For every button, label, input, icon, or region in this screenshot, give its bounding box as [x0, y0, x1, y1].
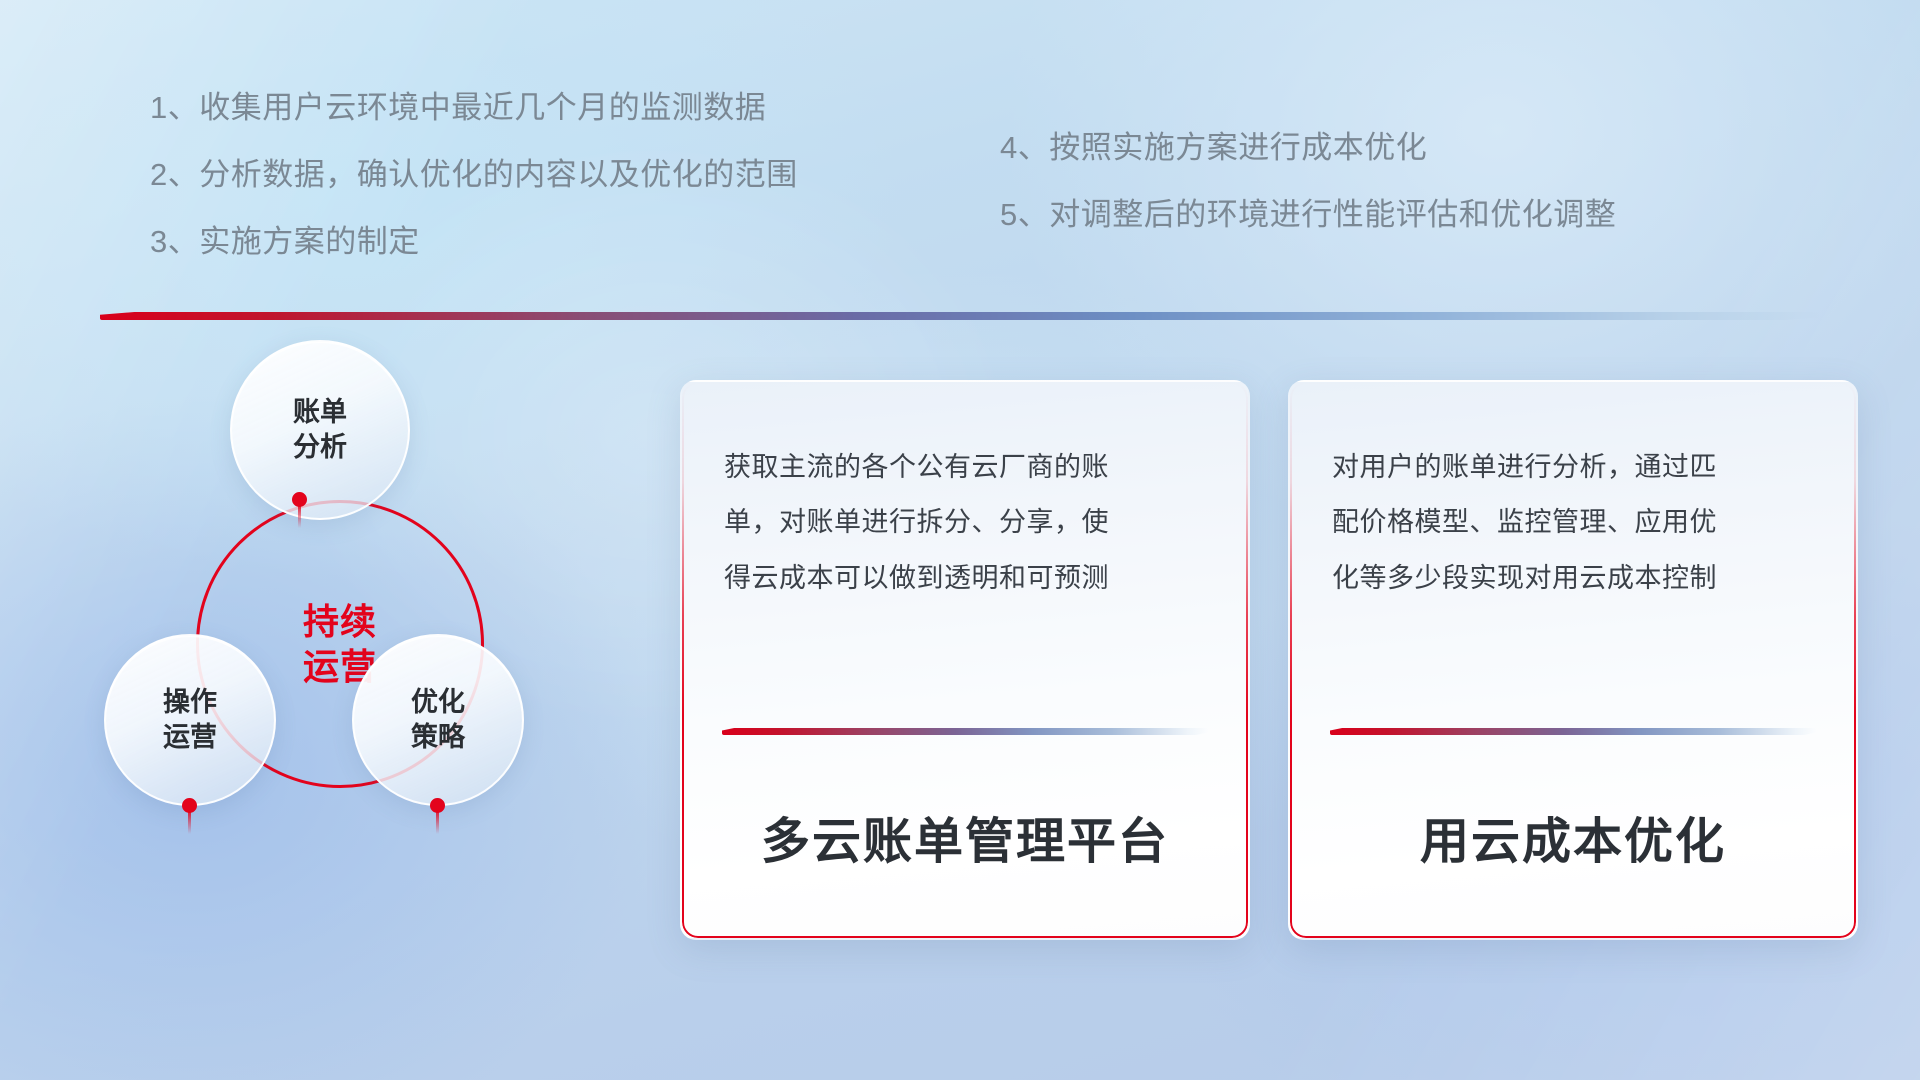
card-body: 对用户的账单进行分析，通过匹 配价格模型、监控管理、应用优 化等多少段实现对用云… [1332, 440, 1818, 606]
card-body-line: 单，对账单进行拆分、分享，使 [724, 495, 1210, 550]
card-body-line: 化等多少段实现对用云成本控制 [1332, 551, 1818, 606]
step-item-1: 1、收集用户云环境中最近几个月的监测数据 [150, 92, 798, 123]
node-connector-bottom-right [436, 812, 439, 834]
card-body-line: 对用户的账单进行分析，通过匹 [1332, 440, 1818, 495]
section-divider-rule [100, 312, 1820, 320]
node-dot-top [292, 492, 307, 507]
step-item-3: 3、实施方案的制定 [150, 226, 798, 257]
step-item-5: 5、对调整后的环境进行性能评估和优化调整 [1000, 199, 1616, 230]
card-divider-rule [1330, 728, 1816, 735]
card-body-line: 获取主流的各个公有云厂商的账 [724, 440, 1210, 495]
diagram-node-bill-analysis[interactable]: 账单 分析 [230, 340, 410, 520]
step-item-4: 4、按照实施方案进行成本优化 [1000, 132, 1616, 163]
card-body-line: 得云成本可以做到透明和可预测 [724, 551, 1210, 606]
card-title: 用云成本优化 [1290, 802, 1856, 873]
steps-right-column: 4、按照实施方案进行成本优化 5、对调整后的环境进行性能评估和优化调整 [1000, 132, 1616, 266]
continuous-operation-diagram: 持续 运营 账单 分析 操作 运营 优化 策略 [90, 340, 550, 940]
node-dot-bottom-left [182, 798, 197, 813]
node-connector-bottom-left [188, 812, 191, 834]
diagram-node-label: 操作 运营 [163, 685, 217, 754]
step-item-2: 2、分析数据，确认优化的内容以及优化的范围 [150, 159, 798, 190]
steps-left-column: 1、收集用户云环境中最近几个月的监测数据 2、分析数据，确认优化的内容以及优化的… [150, 92, 798, 293]
node-connector-top [298, 506, 301, 528]
card-body-line: 配价格模型、监控管理、应用优 [1332, 495, 1818, 550]
diagram-node-label: 优化 策略 [411, 685, 465, 754]
diagram-node-operation-ops[interactable]: 操作 运营 [104, 634, 276, 806]
card-multi-cloud-billing-platform[interactable]: 获取主流的各个公有云厂商的账 单，对账单进行拆分、分享，使 得云成本可以做到透明… [680, 380, 1250, 940]
diagram-node-optimization-policy[interactable]: 优化 策略 [352, 634, 524, 806]
diagram-node-label: 账单 分析 [293, 395, 347, 464]
card-body: 获取主流的各个公有云厂商的账 单，对账单进行拆分、分享，使 得云成本可以做到透明… [724, 440, 1210, 606]
card-title: 多云账单管理平台 [682, 802, 1248, 873]
card-cloud-cost-optimization[interactable]: 对用户的账单进行分析，通过匹 配价格模型、监控管理、应用优 化等多少段实现对用云… [1288, 380, 1858, 940]
card-divider-rule [722, 728, 1208, 735]
node-dot-bottom-right [430, 798, 445, 813]
